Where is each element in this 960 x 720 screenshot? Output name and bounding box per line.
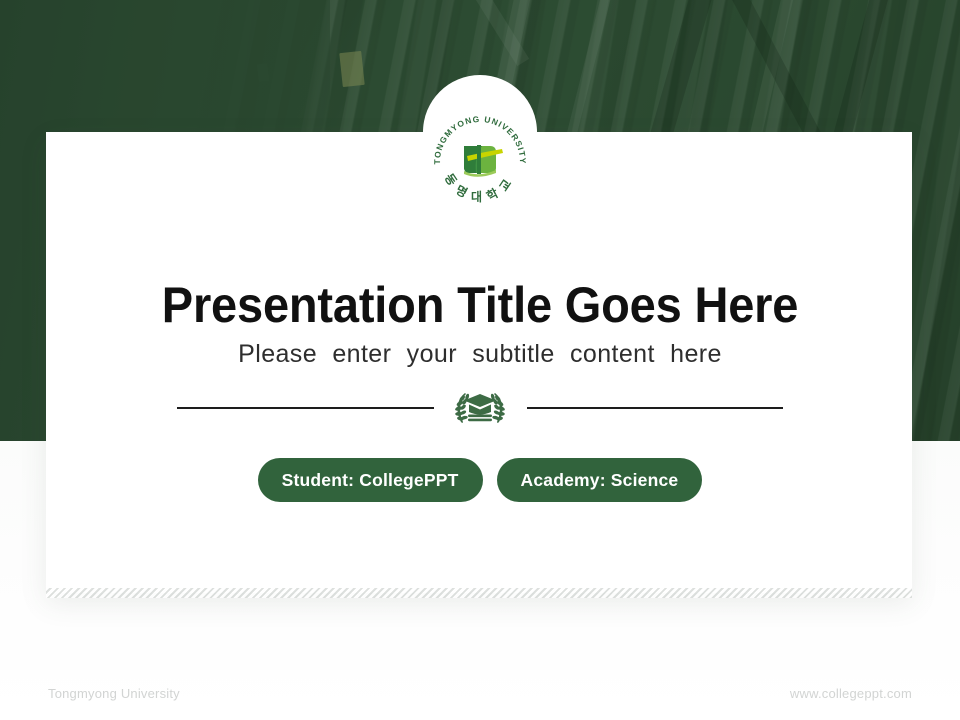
badge-academy[interactable]: Academy: Science <box>497 458 703 502</box>
university-crest-icon: TONGMYONG UNIVERSITY 동명대학교 <box>428 108 532 212</box>
graduation-cap-laurel-icon <box>449 385 511 431</box>
footer-website-url: www.collegeppt.com <box>790 686 912 701</box>
slide-subtitle: Please enter your subtitle content here <box>0 340 960 369</box>
divider-rule-right <box>527 407 783 409</box>
badge-student[interactable]: Student: CollegePPT <box>258 458 483 502</box>
card-hatched-strip <box>46 588 912 598</box>
slide-title: Presentation Title Goes Here <box>29 276 931 334</box>
presentation-slide: TONGMYONG UNIVERSITY 동명대학교 Presentation … <box>0 0 960 720</box>
badge-row: Student: CollegePPT Academy: Science <box>0 458 960 502</box>
divider-rule-left <box>177 407 434 409</box>
footer-university-name: Tongmyong University <box>48 686 180 701</box>
